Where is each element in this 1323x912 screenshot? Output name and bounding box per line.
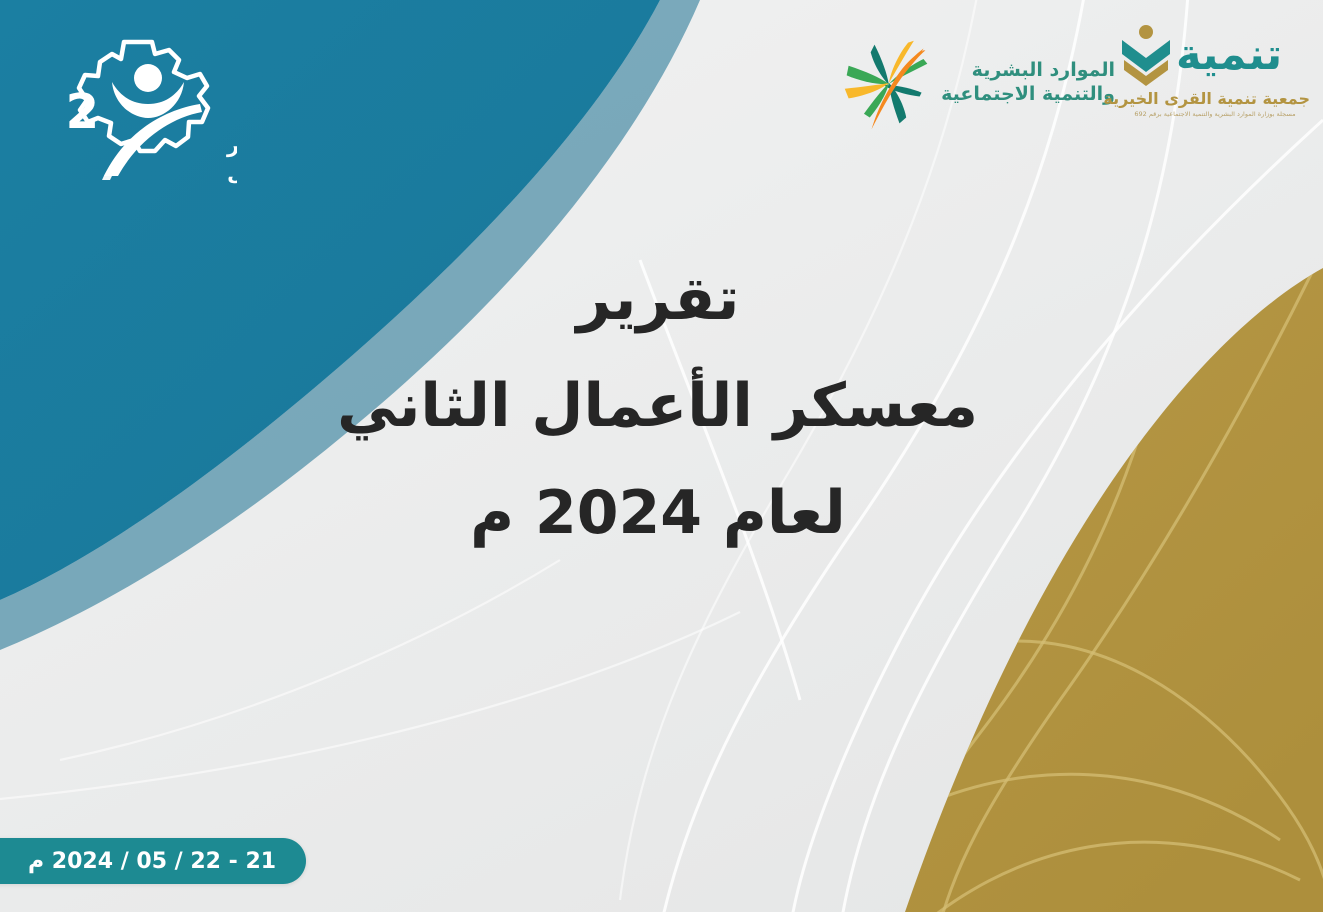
page-title-line-1: تقرير bbox=[338, 246, 978, 353]
ministry-logo-text-line2: والتنمية الاجتماعية bbox=[941, 83, 1115, 106]
camp-logo-title-line2: الأعمال bbox=[227, 159, 237, 185]
tanmia-chevron-leaf-icon bbox=[1120, 24, 1172, 86]
tanmia-subtitle: جمعية تنمية القرى الخيرية bbox=[1120, 90, 1310, 108]
page-title-line-3: لعام 2024 م bbox=[338, 460, 978, 567]
saudi-vision-star-icon bbox=[839, 35, 935, 131]
date-badge: 21 - 22 / 05 / 2024 م bbox=[0, 838, 306, 884]
report-cover-page: 2 معسكر الأعمال الموارد البشرية والتنمية… bbox=[0, 0, 1323, 912]
tanmia-registration-text: مسجلة بوزارة الموارد البشرية والتنمية ال… bbox=[1120, 111, 1310, 118]
tanmia-logo-top: تنمية bbox=[1120, 22, 1310, 88]
ministry-logo-text: الموارد البشرية والتنمية الاجتماعية bbox=[941, 59, 1115, 105]
tanmia-wordmark: تنمية bbox=[1176, 34, 1282, 77]
ministry-of-human-resources-logo: الموارد البشرية والتنمية الاجتماعية bbox=[845, 25, 1115, 140]
ministry-logo-text-line1: الموارد البشرية bbox=[941, 59, 1115, 82]
page-title: تقرير معسكر الأعمال الثاني لعام 2024 م bbox=[338, 246, 978, 566]
camp-logo-edition-number: 2 bbox=[66, 84, 99, 140]
page-title-line-2: معسكر الأعمال الثاني bbox=[338, 353, 978, 460]
camp-logo-title-line1: معسكر bbox=[226, 133, 237, 157]
camp-logo: 2 معسكر الأعمال bbox=[52, 30, 237, 195]
tanmia-association-logo: تنمية جمعية تنمية القرى الخيرية مسجلة بو… bbox=[1120, 22, 1310, 137]
